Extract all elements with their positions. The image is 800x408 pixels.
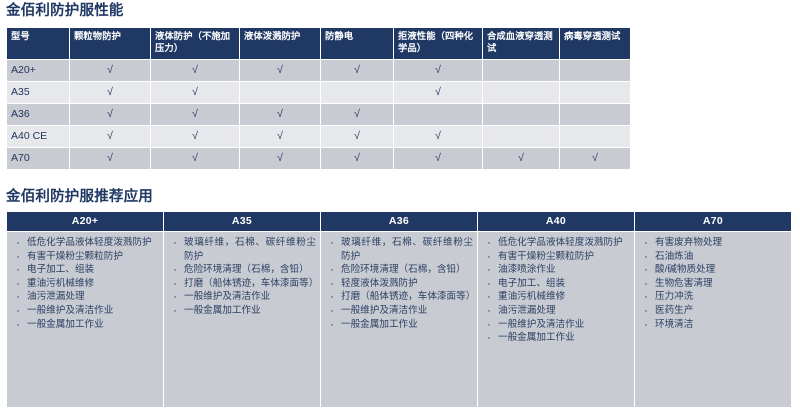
perf-check: √ <box>394 126 482 147</box>
perf-check: √ <box>151 60 239 81</box>
list-item: 玻璃纤维，石棉、碳纤维粉尘防护 <box>326 236 473 263</box>
perf-check: √ <box>394 60 482 81</box>
list-item: 玻璃纤维，石棉、碳纤维粉尘防护 <box>169 236 316 263</box>
list-item: 石油炼油 <box>640 250 787 264</box>
list-item: 一般维护及清洁作业 <box>326 304 473 318</box>
application-list-a35: 玻璃纤维，石棉、碳纤维粉尘防护 危险环境清理（石棉，含铅） 打磨（船体锈迹，车体… <box>166 236 316 318</box>
perf-check: √ <box>240 104 320 125</box>
list-item: 一般金属加工作业 <box>169 304 316 318</box>
application-list-a70: 有害废弃物处理 石油炼油 酸/碱物质处理 生物危害清理 压力冲洗 医药生产 环境… <box>637 236 787 331</box>
perf-check: √ <box>151 126 239 147</box>
perf-check: √ <box>70 82 150 103</box>
perf-check <box>394 104 482 125</box>
applications-table-header-row: A20+ A35 A36 A40 A70 <box>7 212 791 231</box>
perf-col-header-antistatic: 防静电 <box>321 28 393 59</box>
perf-check: √ <box>240 148 320 169</box>
perf-check: √ <box>394 148 482 169</box>
list-item: 电子加工、组装 <box>483 277 630 291</box>
perf-check: √ <box>70 126 150 147</box>
table-row: A40 CE √ √ √ √ √ <box>7 126 630 147</box>
perf-check: √ <box>151 104 239 125</box>
table-row: A35 √ √ √ <box>7 82 630 103</box>
perf-check: √ <box>240 126 320 147</box>
perf-check <box>560 82 630 103</box>
list-item: 一般金属加工作业 <box>326 318 473 332</box>
apps-cell-a20plus: 低危化学品液体轻度泼溅防护 有害干燥粉尘颗粒防护 电子加工、组装 重油污机械维修… <box>7 232 163 407</box>
list-item: 有害废弃物处理 <box>640 236 787 250</box>
perf-check <box>483 126 559 147</box>
perf-model-a40ce: A40 CE <box>7 126 69 147</box>
apps-cell-a35: 玻璃纤维，石棉、碳纤维粉尘防护 危险环境清理（石棉，含铅） 打磨（船体锈迹，车体… <box>164 232 320 407</box>
performance-section-title: 金佰利防护服性能 <box>6 4 124 20</box>
application-list-a40: 低危化学品液体轻度泼溅防护 有害干燥粉尘颗粒防护 油漆喷涂作业 电子加工、组装 … <box>480 236 630 345</box>
list-item: 有害干燥粉尘颗粒防护 <box>12 250 159 264</box>
apps-col-header-a70: A70 <box>635 212 791 231</box>
table-row: A36 √ √ √ √ <box>7 104 630 125</box>
perf-check: √ <box>151 82 239 103</box>
perf-col-header-liquid-splash: 液体泼溅防护 <box>240 28 320 59</box>
perf-check: √ <box>70 104 150 125</box>
list-item: 危险环境清理（石棉，含铅） <box>326 263 473 277</box>
apps-cell-a40: 低危化学品液体轻度泼溅防护 有害干燥粉尘颗粒防护 油漆喷涂作业 电子加工、组装 … <box>478 232 634 407</box>
perf-check <box>483 60 559 81</box>
performance-table-body: A20+ √ √ √ √ √ A35 √ √ √ <box>7 60 630 169</box>
list-item: 油漆喷涂作业 <box>483 263 630 277</box>
applications-section-title: 金佰利防护服推荐应用 <box>6 190 153 206</box>
perf-model-a36: A36 <box>7 104 69 125</box>
list-item: 打磨（船体锈迹，车体漆面等） <box>326 290 473 304</box>
document-page: 金佰利防护服性能 型号 颗粒物防护 液体防护（不施加压力） 液体泼溅防护 防静 <box>0 0 800 400</box>
perf-check: √ <box>321 148 393 169</box>
list-item: 轻度液体泼溅防护 <box>326 277 473 291</box>
list-item: 打磨（船体锈迹，车体漆面等） <box>169 277 316 291</box>
perf-check: √ <box>321 104 393 125</box>
performance-table-header-row: 型号 颗粒物防护 液体防护（不施加压力） 液体泼溅防护 防静电 拒液性能（四种化… <box>7 28 630 59</box>
list-item: 酸/碱物质处理 <box>640 263 787 277</box>
perf-col-header-model: 型号 <box>7 28 69 59</box>
list-item: 生物危害清理 <box>640 277 787 291</box>
perf-model-a70: A70 <box>7 148 69 169</box>
list-item: 电子加工、组装 <box>12 263 159 277</box>
perf-check: √ <box>70 60 150 81</box>
apps-col-header-a40: A40 <box>478 212 634 231</box>
list-item: 油污泄漏处理 <box>12 290 159 304</box>
list-item: 压力冲洗 <box>640 290 787 304</box>
perf-col-header-particulate: 颗粒物防护 <box>70 28 150 59</box>
performance-table: 型号 颗粒物防护 液体防护（不施加压力） 液体泼溅防护 防静电 拒液性能（四种化… <box>6 27 631 170</box>
perf-check <box>321 82 393 103</box>
perf-check: √ <box>321 126 393 147</box>
table-row: 低危化学品液体轻度泼溅防护 有害干燥粉尘颗粒防护 电子加工、组装 重油污机械维修… <box>7 232 791 407</box>
perf-check <box>560 104 630 125</box>
apps-col-header-a20plus: A20+ <box>7 212 163 231</box>
applications-table: A20+ A35 A36 A40 A70 低危化学品液体轻度泼溅防护 有害干燥粉… <box>6 211 792 408</box>
list-item: 重油污机械维修 <box>12 277 159 291</box>
apps-cell-a70: 有害废弃物处理 石油炼油 酸/碱物质处理 生物危害清理 压力冲洗 医药生产 环境… <box>635 232 791 407</box>
perf-model-a20plus: A20+ <box>7 60 69 81</box>
perf-check: √ <box>70 148 150 169</box>
perf-check <box>560 126 630 147</box>
application-list-a36: 玻璃纤维，石棉、碳纤维粉尘防护 危险环境清理（石棉，含铅） 轻度液体泼溅防护 打… <box>323 236 473 331</box>
apps-col-header-a35: A35 <box>164 212 320 231</box>
perf-check <box>240 82 320 103</box>
apps-col-header-a36: A36 <box>321 212 477 231</box>
table-row: A20+ √ √ √ √ √ <box>7 60 630 81</box>
perf-col-header-blood-penetration: 合成血液穿透测试 <box>483 28 559 59</box>
list-item: 油污泄漏处理 <box>483 304 630 318</box>
list-item: 一般维护及清洁作业 <box>483 318 630 332</box>
apps-cell-a36: 玻璃纤维，石棉、碳纤维粉尘防护 危险环境清理（石棉，含铅） 轻度液体泼溅防护 打… <box>321 232 477 407</box>
perf-check: √ <box>560 148 630 169</box>
list-item: 环境清洁 <box>640 318 787 332</box>
perf-col-header-liquid-no-pressure: 液体防护（不施加压力） <box>151 28 239 59</box>
perf-col-header-repellency: 拒液性能（四种化学品） <box>394 28 482 59</box>
perf-check <box>560 60 630 81</box>
application-list-a20plus: 低危化学品液体轻度泼溅防护 有害干燥粉尘颗粒防护 电子加工、组装 重油污机械维修… <box>9 236 159 331</box>
perf-check: √ <box>483 148 559 169</box>
applications-table-container: A20+ A35 A36 A40 A70 低危化学品液体轻度泼溅防护 有害干燥粉… <box>6 211 792 408</box>
list-item: 一般维护及清洁作业 <box>169 290 316 304</box>
perf-check: √ <box>240 60 320 81</box>
list-item: 重油污机械维修 <box>483 290 630 304</box>
list-item: 有害干燥粉尘颗粒防护 <box>483 250 630 264</box>
list-item: 低危化学品液体轻度泼溅防护 <box>483 236 630 250</box>
list-item: 一般金属加工作业 <box>12 318 159 332</box>
perf-check: √ <box>394 82 482 103</box>
applications-table-body: 低危化学品液体轻度泼溅防护 有害干燥粉尘颗粒防护 电子加工、组装 重油污机械维修… <box>7 232 791 407</box>
perf-model-a35: A35 <box>7 82 69 103</box>
list-item: 医药生产 <box>640 304 787 318</box>
list-item: 一般维护及清洁作业 <box>12 304 159 318</box>
list-item: 一般金属加工作业 <box>483 331 630 345</box>
perf-col-header-virus-penetration: 病毒穿透测试 <box>560 28 630 59</box>
perf-check <box>483 82 559 103</box>
list-item: 危险环境清理（石棉，含铅） <box>169 263 316 277</box>
performance-table-container: 型号 颗粒物防护 液体防护（不施加压力） 液体泼溅防护 防静电 拒液性能（四种化… <box>6 27 628 170</box>
list-item: 低危化学品液体轻度泼溅防护 <box>12 236 159 250</box>
perf-check: √ <box>151 148 239 169</box>
perf-check <box>483 104 559 125</box>
perf-check: √ <box>321 60 393 81</box>
table-row: A70 √ √ √ √ √ √ √ <box>7 148 630 169</box>
